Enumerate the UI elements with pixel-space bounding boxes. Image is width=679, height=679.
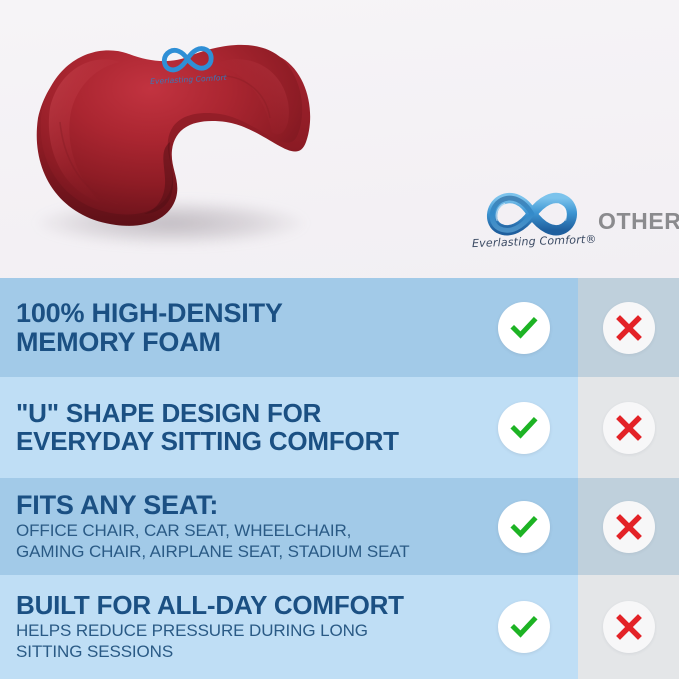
- product-comparison-infographic: Everlasting Comfort: [0, 0, 679, 679]
- hero-section: Everlasting Comfort: [0, 0, 679, 278]
- check-badge: [498, 402, 550, 454]
- check-badge: [498, 302, 550, 354]
- other-column-header: OTHER: [598, 208, 678, 235]
- cross-badge: [603, 601, 655, 653]
- brand-column-header: Everlasting Comfort®: [472, 192, 592, 248]
- brand-result-cell: [470, 278, 578, 377]
- check-icon: [509, 512, 539, 542]
- check-badge: [498, 601, 550, 653]
- check-icon: [509, 313, 539, 343]
- check-icon: [509, 413, 539, 443]
- brand-result-cell: [470, 478, 578, 575]
- comparison-table: 100% HIGH-DENSITY MEMORY FOAM: [0, 278, 679, 679]
- table-row: "U" SHAPE DESIGN FOR EVERYDAY SITTING CO…: [0, 377, 679, 478]
- table-row: BUILT FOR ALL-DAY COMFORT HELPS REDUCE P…: [0, 575, 679, 679]
- feature-subtitle-line: HELPS REDUCE PRESSURE DURING LONG: [16, 621, 368, 640]
- feature-cell: "U" SHAPE DESIGN FOR EVERYDAY SITTING CO…: [0, 377, 470, 478]
- feature-title: FITS ANY SEAT:: [16, 491, 470, 520]
- feature-title: BUILT FOR ALL-DAY COMFORT: [16, 592, 470, 620]
- feature-subtitle: OFFICE CHAIR, CAR SEAT, WHEELCHAIR, GAMI…: [16, 521, 470, 562]
- other-result-cell: [578, 478, 679, 575]
- feature-title: "U" SHAPE DESIGN FOR EVERYDAY SITTING CO…: [16, 400, 470, 455]
- cross-badge: [603, 402, 655, 454]
- feature-title-line: EVERYDAY SITTING COMFORT: [16, 426, 399, 456]
- feature-subtitle-line: SITTING SESSIONS: [16, 642, 173, 661]
- feature-cell: 100% HIGH-DENSITY MEMORY FOAM: [0, 278, 470, 377]
- comparison-header: Everlasting Comfort® OTHER: [470, 192, 679, 272]
- feature-title-line: "U" SHAPE DESIGN FOR: [16, 398, 321, 428]
- table-row: 100% HIGH-DENSITY MEMORY FOAM: [0, 278, 679, 377]
- feature-subtitle-line: OFFICE CHAIR, CAR SEAT, WHEELCHAIR,: [16, 521, 351, 540]
- feature-subtitle: HELPS REDUCE PRESSURE DURING LONG SITTIN…: [16, 621, 470, 662]
- product-image: Everlasting Comfort: [8, 14, 338, 264]
- cushion-logo: Everlasting Comfort: [141, 42, 236, 101]
- cross-icon: [615, 414, 643, 442]
- cross-badge: [603, 302, 655, 354]
- table-row: FITS ANY SEAT: OFFICE CHAIR, CAR SEAT, W…: [0, 478, 679, 575]
- infinity-icon: [158, 43, 217, 76]
- feature-title-line: MEMORY FOAM: [16, 327, 221, 357]
- cross-badge: [603, 501, 655, 553]
- cross-icon: [615, 314, 643, 342]
- feature-title-line: 100% HIGH-DENSITY: [16, 298, 283, 328]
- feature-cell: FITS ANY SEAT: OFFICE CHAIR, CAR SEAT, W…: [0, 478, 470, 575]
- memory-foam-cushion: Everlasting Comfort: [20, 22, 320, 236]
- check-badge: [498, 501, 550, 553]
- brand-result-cell: [470, 377, 578, 478]
- other-result-cell: [578, 377, 679, 478]
- cross-icon: [615, 613, 643, 641]
- feature-subtitle-line: GAMING CHAIR, AIRPLANE SEAT, STADIUM SEA…: [16, 542, 410, 561]
- infinity-icon: [484, 192, 580, 236]
- brand-result-cell: [470, 575, 578, 679]
- feature-cell: BUILT FOR ALL-DAY COMFORT HELPS REDUCE P…: [0, 575, 470, 679]
- feature-title: 100% HIGH-DENSITY MEMORY FOAM: [16, 299, 470, 356]
- cushion-brand-text: Everlasting Comfort: [142, 73, 234, 87]
- other-result-cell: [578, 575, 679, 679]
- brand-name-text: Everlasting Comfort®: [472, 233, 592, 250]
- check-icon: [509, 612, 539, 642]
- cross-icon: [615, 513, 643, 541]
- other-result-cell: [578, 278, 679, 377]
